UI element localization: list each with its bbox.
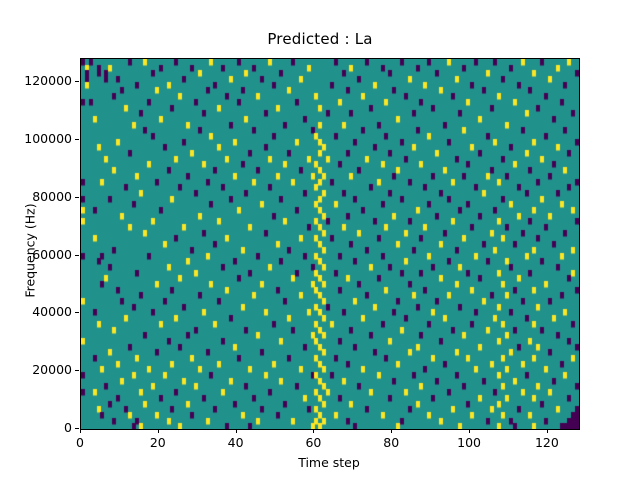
- x-tick-mark: [391, 429, 392, 433]
- heatmap-image: [81, 59, 579, 429]
- x-tick-label: 60: [283, 435, 343, 450]
- y-tick-mark: [75, 255, 79, 256]
- x-tick-label: 20: [128, 435, 188, 450]
- chart-title: Predicted : La: [0, 30, 640, 48]
- x-tick-label: 0: [50, 435, 110, 450]
- y-tick-mark: [75, 312, 79, 313]
- matplotlib-figure: Predicted : La 020406080100120 020000400…: [0, 0, 640, 480]
- x-tick-mark: [158, 429, 159, 433]
- y-tick-mark: [75, 370, 79, 371]
- heatmap-axes[interactable]: [80, 58, 580, 430]
- x-tick-label: 80: [361, 435, 421, 450]
- y-tick-mark: [75, 139, 79, 140]
- y-tick-mark: [75, 197, 79, 198]
- y-tick-label: 0: [0, 420, 72, 435]
- y-axis-label: Frequency (Hz): [23, 131, 38, 371]
- x-tick-label: 40: [206, 435, 266, 450]
- x-axis-label: Time step: [80, 455, 578, 470]
- y-tick-label: 120000: [0, 73, 72, 88]
- x-tick-label: 100: [439, 435, 499, 450]
- y-tick-mark: [75, 428, 79, 429]
- y-tick-mark: [75, 81, 79, 82]
- x-tick-label: 120: [517, 435, 577, 450]
- x-tick-mark: [547, 429, 548, 433]
- x-tick-mark: [469, 429, 470, 433]
- x-tick-mark: [236, 429, 237, 433]
- x-tick-mark: [313, 429, 314, 433]
- x-tick-mark: [80, 429, 81, 433]
